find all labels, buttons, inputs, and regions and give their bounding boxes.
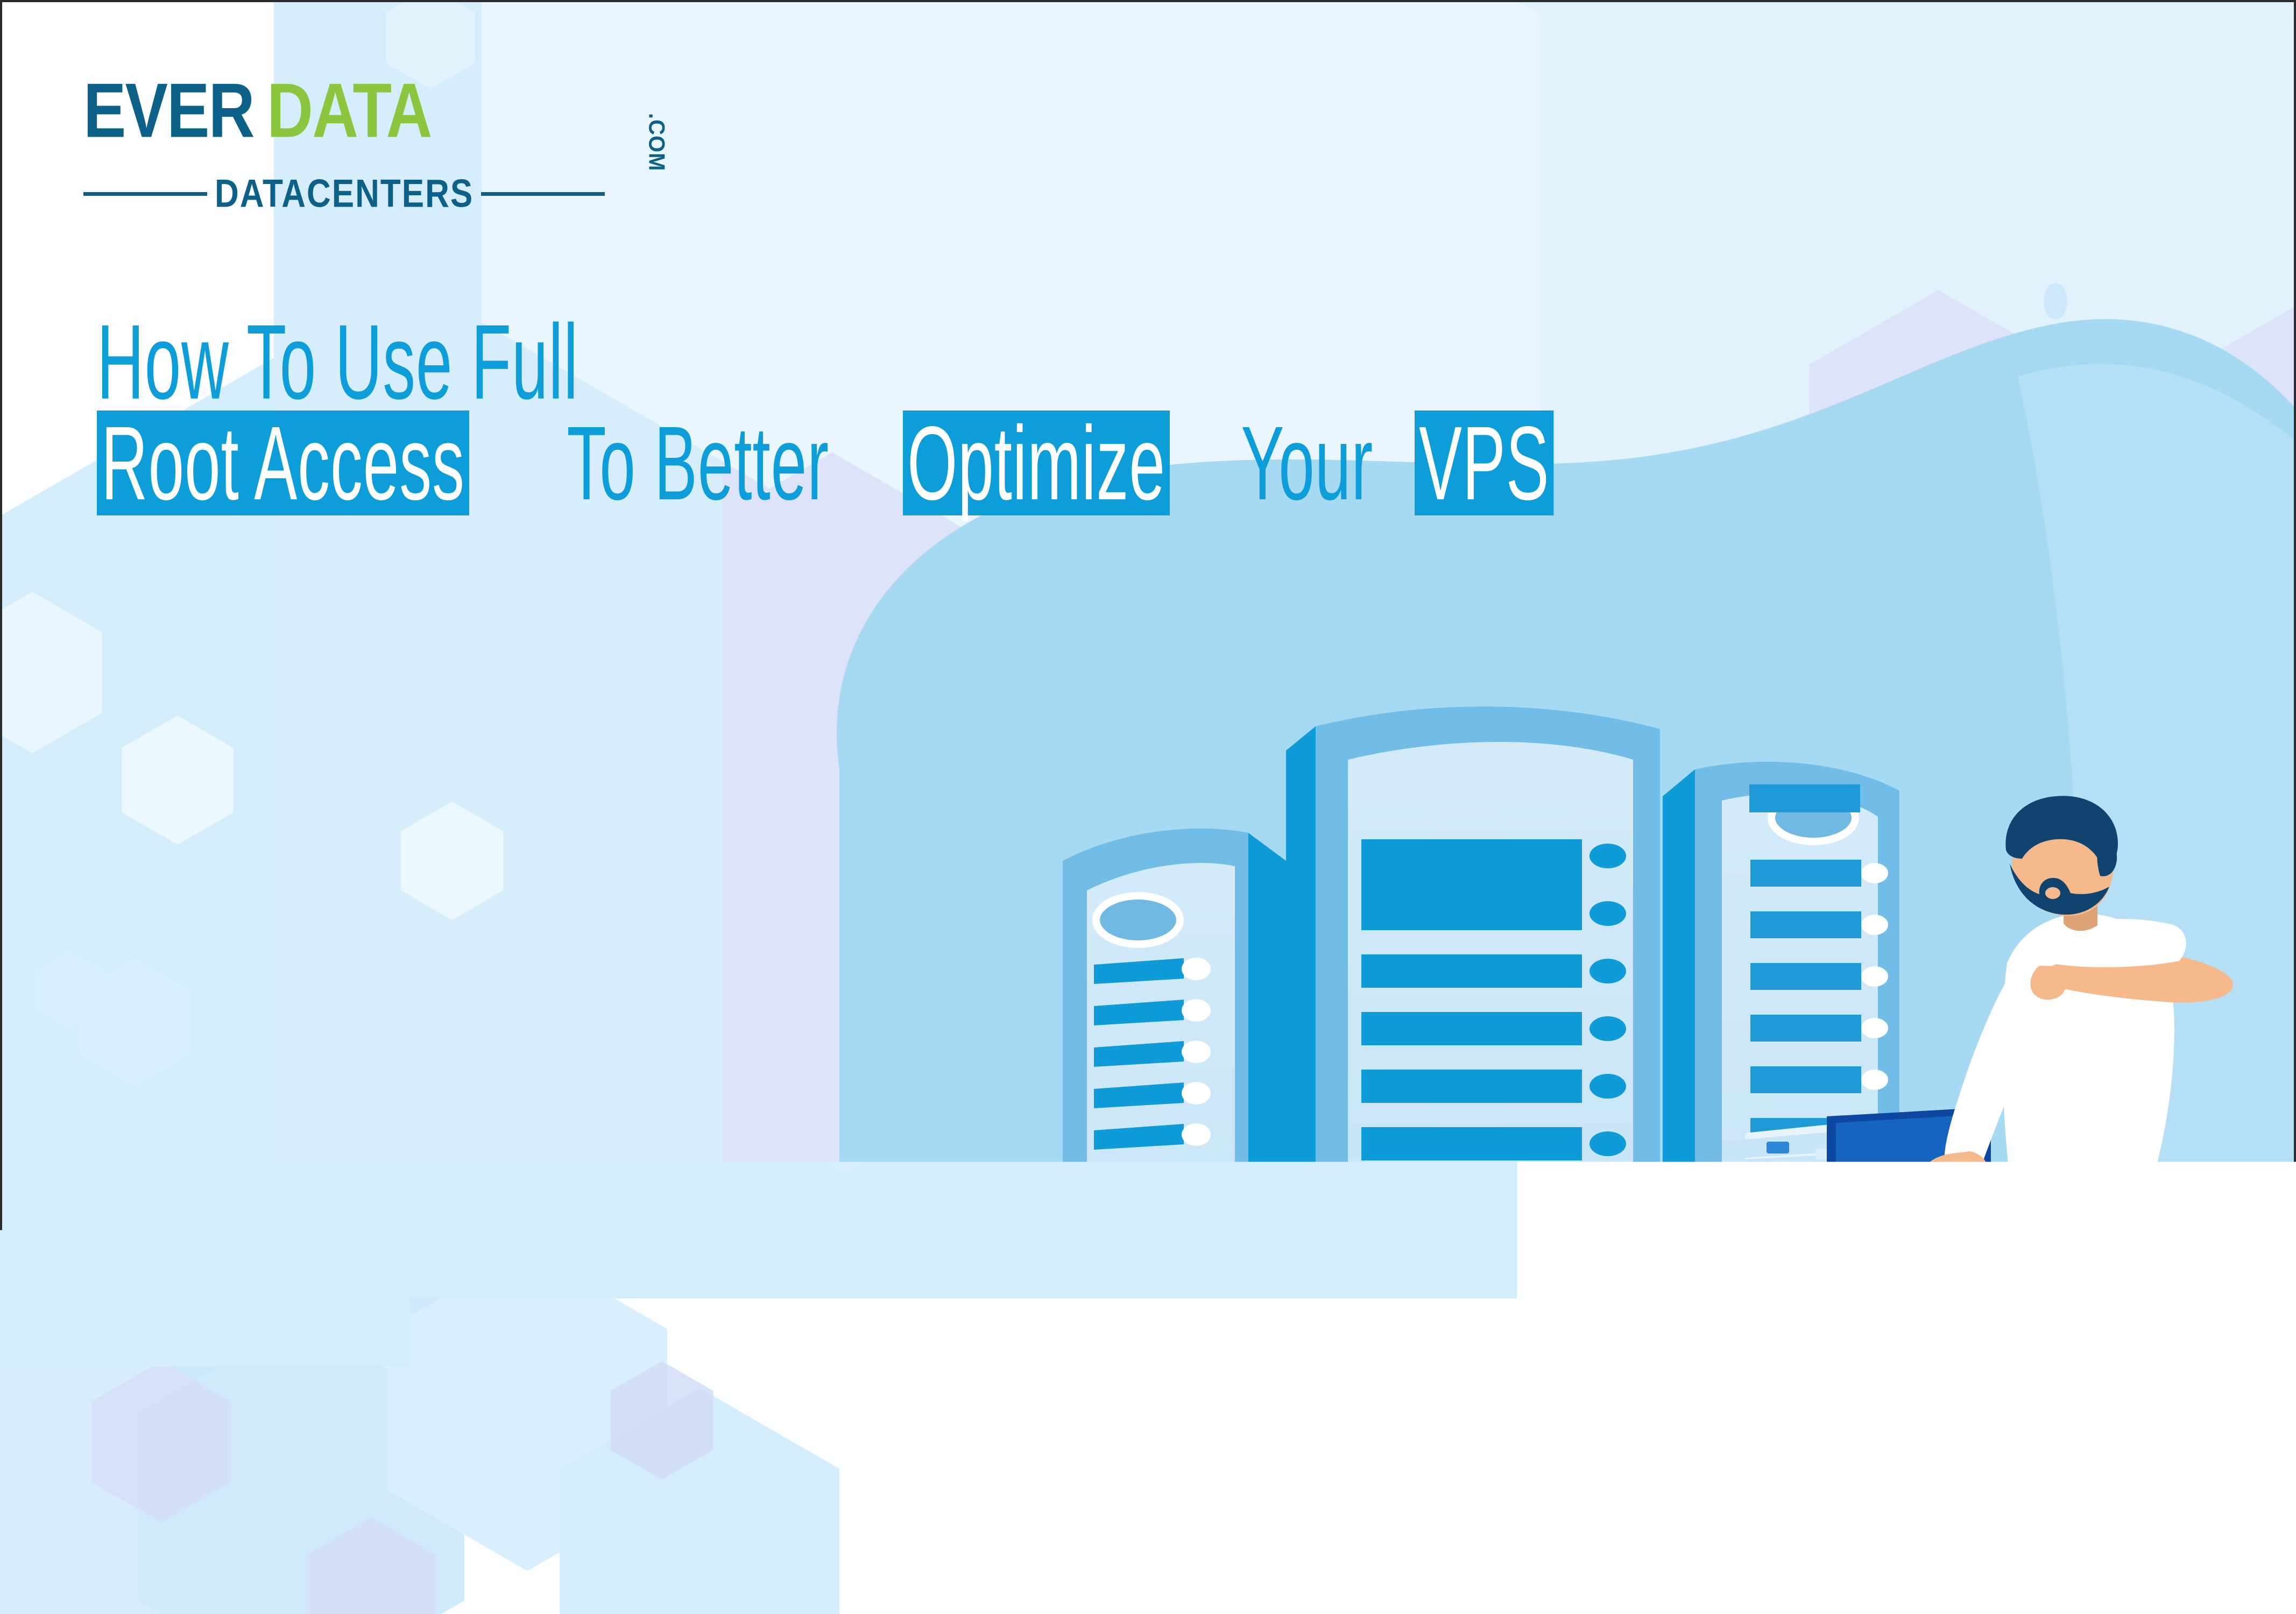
headline-word-how-to-use-full: How To Use Full (97, 309, 578, 415)
poster-canvas: EVERDATA .COM DATACENTERS How To Use Ful… (0, 0, 2296, 1614)
server-rack-right (1663, 762, 1899, 1442)
headline-word-your: Your (1233, 410, 1381, 515)
logo-rule-right (481, 192, 605, 196)
border-bottom (0, 1612, 2296, 1614)
logo-wordmark: EVERDATA .COM (83, 81, 718, 150)
border-top (0, 0, 2296, 2)
rack-right-bars (1750, 860, 1861, 1326)
logo-tagline-row: DATACENTERS (83, 175, 654, 213)
headline-word-optimize: Optimize (903, 410, 1170, 515)
logo-dotcom-text: .COM (645, 113, 668, 171)
logo-rule-left (83, 192, 207, 196)
logo-tagline: DATACENTERS (215, 172, 474, 217)
border-left (0, 0, 2, 1614)
headline-word-vps: VPS (1415, 410, 1554, 515)
headline-word-to-better: To Better (559, 410, 837, 515)
logo-data-text: DATA (267, 73, 432, 150)
datacenter-illustration (0, 0, 2296, 1614)
border-right (2294, 0, 2296, 1614)
headline-line-1: How To Use Full (97, 334, 1765, 415)
page-title: How To Use Full Root AccessTo BetterOpti… (97, 334, 1765, 515)
headline-word-root-access: Root Access (97, 410, 469, 515)
headline-line-2: Root AccessTo BetterOptimizeYourVPS (97, 435, 1765, 515)
server-rack-center (1286, 706, 1660, 1469)
brand-logo[interactable]: EVERDATA .COM DATACENTERS (83, 81, 718, 150)
server-rack-left (1063, 829, 1286, 1447)
logo-ever-text: EVER (83, 73, 254, 150)
